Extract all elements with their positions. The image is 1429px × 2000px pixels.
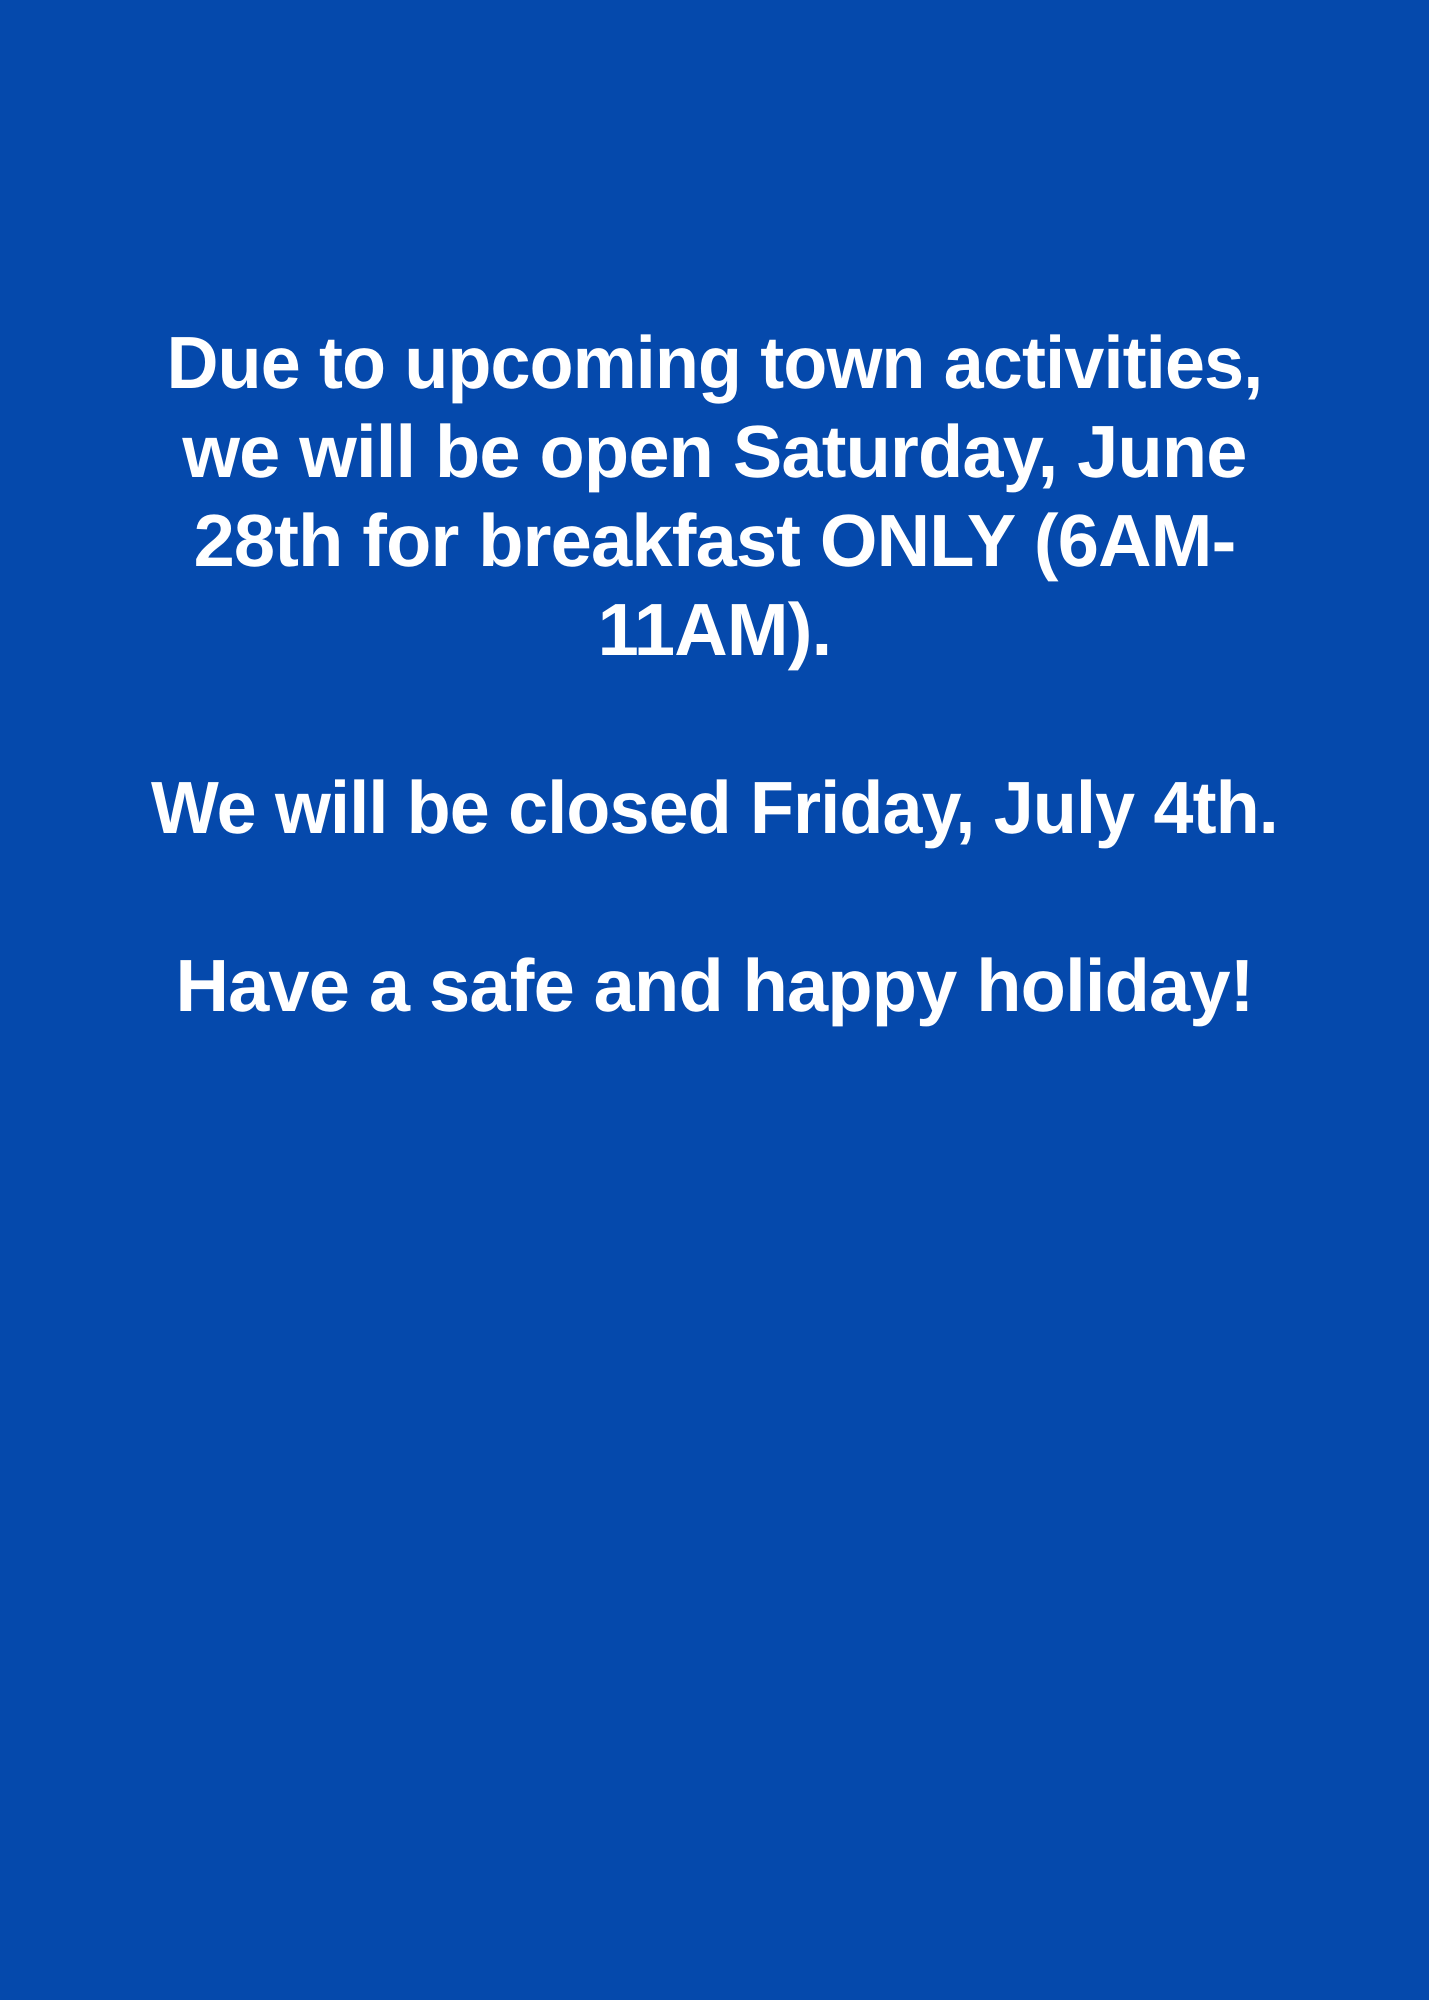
message-line-4: 11AM). — [14, 585, 1415, 674]
message-line-1: Due to upcoming town activities, — [35, 318, 1394, 407]
paragraph-july-fourth-closure: We will be closed Friday, July 4th. — [14, 763, 1415, 852]
message-line-5: We will be closed Friday, July 4th. — [35, 763, 1394, 852]
message-line-2: we will be open Saturday, June — [14, 407, 1415, 496]
announcement-message-block: Due to upcoming town activities, we will… — [0, 0, 1429, 1030]
message-line-3: 28th for breakfast ONLY (6AM- — [14, 496, 1415, 585]
paragraph-spacer-2 — [14, 852, 1415, 941]
paragraph-saturday-hours: Due to upcoming town activities, we will… — [14, 318, 1415, 674]
message-line-6: Have a safe and happy holiday! — [14, 941, 1415, 1030]
announcement-poster: Due to upcoming town activities, we will… — [0, 0, 1429, 2000]
paragraph-spacer-1 — [14, 674, 1415, 763]
paragraph-holiday-wish: Have a safe and happy holiday! — [14, 941, 1415, 1030]
